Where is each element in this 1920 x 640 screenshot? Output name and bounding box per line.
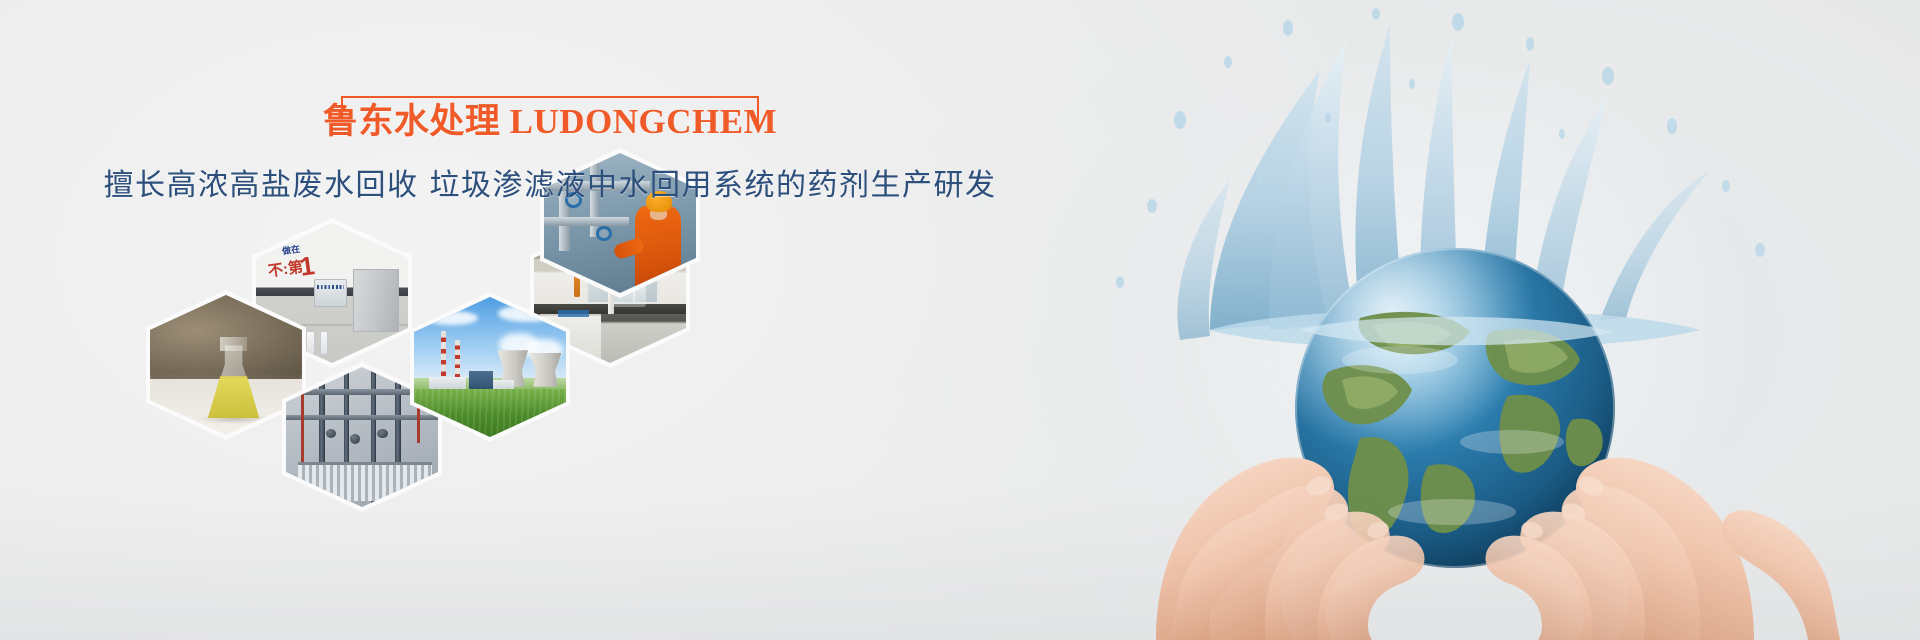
horizontal-pipe: [286, 415, 438, 421]
horizontal-pipe: [544, 217, 629, 225]
company-title: 鲁东水处理 LUDONGCHEM: [323, 104, 777, 139]
company-title-frame: 鲁东水处理 LUDONGCHEM: [341, 96, 759, 146]
valve: [350, 434, 361, 444]
left-hand: [1156, 458, 1424, 640]
slogan-number: 1: [298, 250, 317, 283]
valve: [377, 429, 388, 439]
red-pipe: [301, 378, 304, 462]
hero-banner: 鲁东水处理 LUDONGCHEM 擅长高浓高盐废水回收 垃圾渗滤液中水回用系统的…: [0, 0, 1920, 640]
wall-slogan: 做在 不:第 1: [268, 243, 329, 279]
reagent-jug: [320, 331, 328, 355]
cloud: [426, 311, 478, 325]
right-hand: [1486, 458, 1840, 640]
flask-neck: [220, 337, 247, 351]
hands-holding-earth-artwork: [1060, 0, 1920, 640]
hexagon-photo-cluster: 做在 不:第 1: [0, 210, 1020, 540]
banner-subtitle: 擅长高浓高盐废水回收 垃圾渗滤液中水回用系统的药剂生产研发: [0, 160, 1100, 204]
cabinet: [353, 269, 399, 332]
instrument-box: [314, 279, 347, 307]
blue-rail: [558, 310, 588, 317]
photo-power-plant-cooling-towers: [414, 297, 566, 437]
plant-building: [469, 371, 493, 391]
reagent-jug: [306, 331, 314, 355]
valve: [326, 429, 337, 439]
hex-image-mask: [150, 295, 302, 435]
banner-text-block: 鲁东水处理 LUDONGCHEM 擅长高浓高盐废水回收 垃圾渗滤液中水回用系统的…: [0, 96, 1100, 204]
pipe-manifold: [298, 462, 432, 501]
photo-conical-flask-yellow-liquid: [150, 295, 302, 435]
hands-illustration: [1060, 0, 1920, 640]
hex-image-mask: [414, 297, 566, 437]
valve-handwheel: [596, 226, 613, 241]
bracket-top-line: [341, 96, 759, 98]
